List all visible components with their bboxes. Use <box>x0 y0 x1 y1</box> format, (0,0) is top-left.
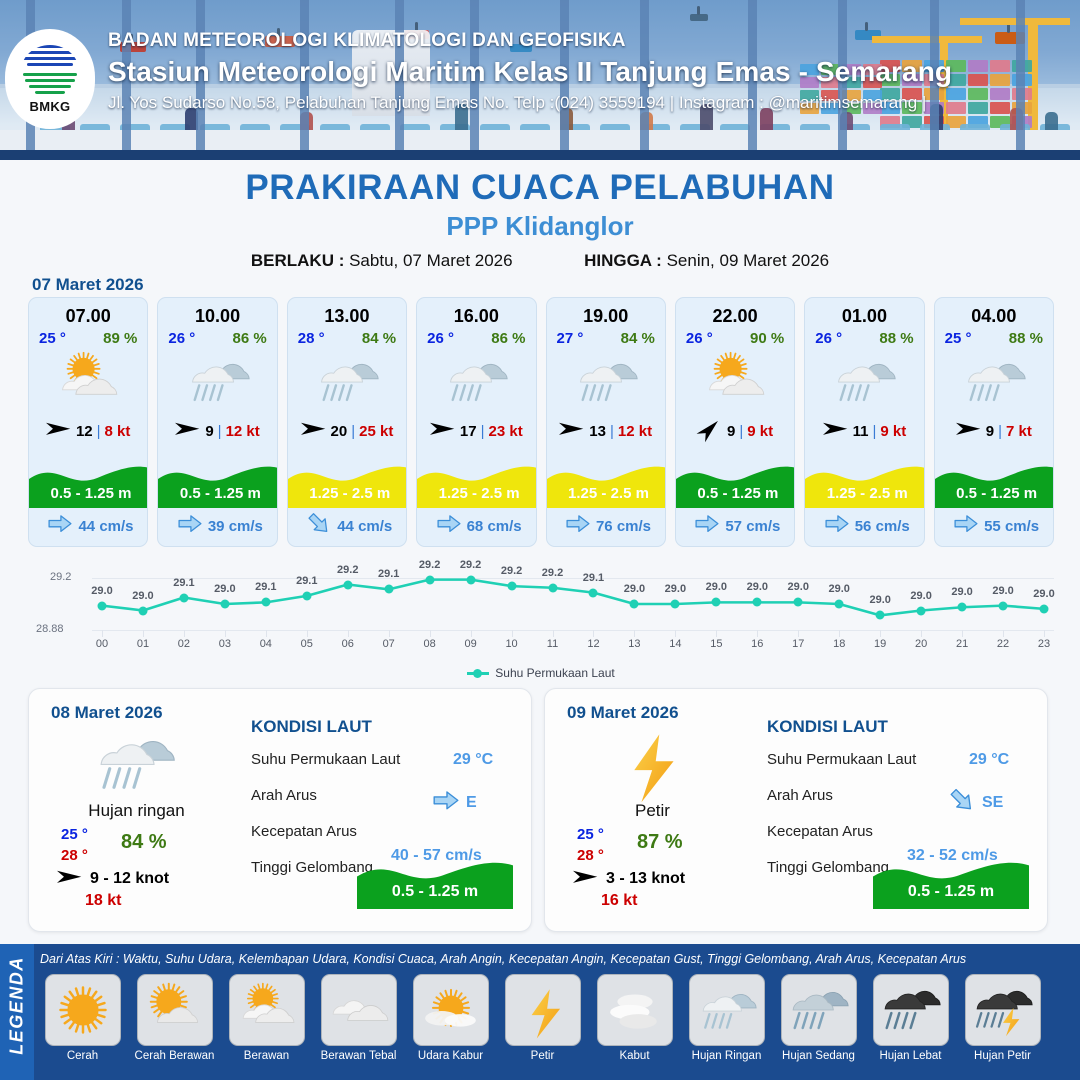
wind-direction-arrow-icon <box>956 421 982 441</box>
hourly-forecast-card[interactable]: 19.00 27 ° 84 % 13 | 12 kt 1.25 - 2.5 m … <box>546 297 666 547</box>
card-current-speed: 44 cm/s <box>78 518 133 535</box>
chart-data-point <box>98 601 107 610</box>
legend-item-label: Hujan Sedang <box>782 1050 855 1062</box>
chart-data-point <box>466 575 475 584</box>
card-wind-gust: 9 kt <box>747 423 773 440</box>
card-air-temperature: 28 ° <box>298 330 325 347</box>
card-current-row: 57 cm/s <box>676 512 795 540</box>
chart-data-point <box>712 598 721 607</box>
current-direction-arrow-icon <box>954 515 978 536</box>
legend-footer: LEGENDA Dari Atas Kiri : Waktu, Suhu Uda… <box>0 944 1080 1080</box>
chart-x-tick <box>471 630 472 637</box>
chart-x-axis-label: 13 <box>628 638 640 650</box>
sea-row-label: Tinggi Gelombang <box>251 859 373 876</box>
card-wind-separator: | <box>97 423 101 440</box>
chart-legend: Suhu Permukaan Laut <box>28 666 1054 680</box>
day3-wind-row: 3 - 13 knot <box>573 869 685 890</box>
card-air-temperature: 27 ° <box>557 330 584 347</box>
chart-x-axis-label: 19 <box>874 638 886 650</box>
chart-x-axis-label: 08 <box>424 638 436 650</box>
chart-x-tick <box>1044 630 1045 637</box>
legend-item-label: Kabut <box>619 1050 649 1062</box>
card-humidity: 88 % <box>879 330 913 347</box>
chart-data-point <box>507 582 516 591</box>
card-wind-speed: 11 <box>853 423 869 440</box>
chart-data-point <box>876 611 885 620</box>
legend-item: Hujan Lebat <box>868 974 953 1072</box>
berawan-icon <box>229 974 305 1046</box>
current-direction-arrow-icon <box>825 515 849 536</box>
legend-item: Hujan Sedang <box>776 974 861 1072</box>
legend-item-label: Petir <box>531 1050 555 1062</box>
chart-x-axis-label: 10 <box>505 638 517 650</box>
sea-row-label: Arah Arus <box>767 787 833 804</box>
card-wind-speed: 13 <box>589 423 606 440</box>
page-title: PRAKIRAAN CUACA PELABUHAN <box>0 168 1080 208</box>
day3-wind-gust: 16 kt <box>601 892 637 910</box>
chart-point-label: 29.0 <box>132 590 153 602</box>
legend-item: Petir <box>500 974 585 1072</box>
card-weather-icon <box>288 348 406 414</box>
chart-x-tick <box>757 630 758 637</box>
day3-temperature-range: 25 ° 28 ° <box>577 824 604 866</box>
chart-point-label: 29.2 <box>501 565 522 577</box>
day2-wind-row: 9 - 12 knot <box>57 869 169 890</box>
legend-item-label: Hujan Lebat <box>879 1050 941 1062</box>
chart-data-point <box>671 600 680 609</box>
current-direction-arrow-icon <box>48 515 72 536</box>
chart-point-label: 29.2 <box>542 567 563 579</box>
chart-x-axis-label: 22 <box>997 638 1009 650</box>
berawan-tebal-icon <box>321 974 397 1046</box>
card-wind-separator: | <box>998 423 1002 440</box>
card-humidity: 90 % <box>750 330 784 347</box>
sea-row-label: Arah Arus <box>251 787 317 804</box>
card-wind-separator: | <box>739 423 743 440</box>
legend-item-label: Udara Kabur <box>418 1050 483 1062</box>
card-wind-gust: 12 kt <box>226 423 260 440</box>
card-air-temperature: 26 ° <box>815 330 842 347</box>
card-wind-row: 17 | 23 kt <box>417 416 535 446</box>
chart-data-point <box>917 606 926 615</box>
chart-x-tick <box>143 630 144 637</box>
panel-wave-height: 0.5 - 1.25 m <box>873 883 1029 901</box>
card-weather-icon <box>805 348 923 414</box>
card-wind-gust: 8 kt <box>105 423 131 440</box>
legend-icon-list: Cerah Cerah Berawan Berawan Berawan Teba… <box>40 974 1075 1072</box>
card-temp-humidity-row: 26 ° 86 % <box>417 327 535 347</box>
chart-x-tick <box>512 630 513 637</box>
hujan-sedang-icon <box>781 974 857 1046</box>
card-air-temperature: 26 ° <box>168 330 195 347</box>
card-wind-row: 20 | 25 kt <box>288 416 406 446</box>
sea-row-label: Suhu Permukaan Laut <box>251 751 400 768</box>
legend-item-label: Hujan Ringan <box>692 1050 762 1062</box>
hujan-petir-icon <box>965 974 1041 1046</box>
arrow-se-icon <box>949 791 975 815</box>
chart-x-axis-label: 14 <box>669 638 681 650</box>
chart-x-axis-label: 00 <box>96 638 108 650</box>
chart-data-point <box>179 593 188 602</box>
card-wind-row: 9 | 7 kt <box>935 416 1053 446</box>
card-wind-speed: 20 <box>331 423 348 440</box>
chart-point-label: 29.0 <box>788 581 809 593</box>
day3-temp-max: 28 ° <box>577 845 604 866</box>
kabut-icon <box>597 974 673 1046</box>
chart-data-point <box>343 580 352 589</box>
chart-point-label: 29.1 <box>296 575 317 587</box>
chart-x-tick <box>266 630 267 637</box>
card-wave-height: 1.25 - 2.5 m <box>417 485 536 502</box>
card-weather-icon <box>935 348 1053 414</box>
valid-until-value: Senin, 09 Maret 2026 <box>667 251 830 270</box>
chart-data-point <box>548 583 557 592</box>
card-wind-gust: 23 kt <box>489 423 523 440</box>
day2-weather-icon <box>69 721 199 805</box>
wind-direction-arrow-icon <box>573 869 599 890</box>
chart-point-label: 29.0 <box>992 585 1013 597</box>
chart-data-point <box>138 606 147 615</box>
chart-x-axis-label: 06 <box>342 638 354 650</box>
chart-x-tick <box>880 630 881 637</box>
validity-row: BERLAKU : Sabtu, 07 Maret 2026 HINGGA : … <box>0 251 1080 271</box>
chart-point-label: 29.0 <box>1033 588 1054 600</box>
sea-row-label: Tinggi Gelombang <box>767 859 889 876</box>
bmkg-logo-emblem <box>21 45 79 97</box>
day2-temp-min: 25 ° <box>61 824 88 845</box>
chart-x-axis-label: 16 <box>751 638 763 650</box>
hujan-ringan-icon <box>689 974 765 1046</box>
hourly-forecast-card[interactable]: 13.00 28 ° 84 % 20 | 25 kt 1.25 - 2.5 m … <box>287 297 407 547</box>
chart-x-axis-label: 03 <box>219 638 231 650</box>
chart-x-tick <box>225 630 226 637</box>
legend-item: Cerah <box>40 974 125 1072</box>
card-temp-humidity-row: 25 ° 89 % <box>29 327 147 347</box>
card-current-speed: 76 cm/s <box>596 518 651 535</box>
card-time: 19.00 <box>547 306 665 327</box>
card-time: 04.00 <box>935 306 1053 327</box>
card-time: 10.00 <box>158 306 276 327</box>
day2-wind-speed: 9 - 12 knot <box>90 870 169 888</box>
chart-data-point <box>425 575 434 584</box>
card-wind-row: 13 | 12 kt <box>547 416 665 446</box>
chart-data-point <box>384 585 393 594</box>
chart-point-label: 29.1 <box>378 568 399 580</box>
chart-point-label: 29.0 <box>747 581 768 593</box>
legend-item: Berawan <box>224 974 309 1072</box>
chart-x-tick <box>348 630 349 637</box>
card-current-row: 55 cm/s <box>935 512 1054 540</box>
chart-point-label: 29.0 <box>91 585 112 597</box>
sea-row-label: Suhu Permukaan Laut <box>767 751 916 768</box>
chart-x-tick <box>184 630 185 637</box>
sea-row-value: SE <box>949 791 1003 815</box>
station-name: Stasiun Meteorologi Maritim Kelas II Tan… <box>108 56 1028 88</box>
hujan-lebat-icon <box>873 974 949 1046</box>
chart-data-point <box>794 598 803 607</box>
chart-x-axis-label: 01 <box>137 638 149 650</box>
card-wind-row: 11 | 9 kt <box>805 416 923 446</box>
card-wave-height: 0.5 - 1.25 m <box>935 485 1054 502</box>
legend-item: Kabut <box>592 974 677 1072</box>
card-weather-icon <box>676 348 794 414</box>
card-wave-height: 0.5 - 1.25 m <box>29 485 148 502</box>
cerah-icon <box>45 974 121 1046</box>
chart-point-label: 29.0 <box>828 583 849 595</box>
hourly-forecast-cards: 07.00 25 ° 89 % 12 | 8 kt 0.5 - 1.25 m 4… <box>28 297 1054 547</box>
chart-x-axis-label: 15 <box>710 638 722 650</box>
card-time: 07.00 <box>29 306 147 327</box>
card-weather-icon <box>158 348 276 414</box>
chart-data-point <box>220 600 229 609</box>
page-header: BMKG BADAN METEOROLOGI KLIMATOLOGI DAN G… <box>0 0 1080 160</box>
chart-data-point <box>261 598 270 607</box>
legend-tab-label: LEGENDA <box>7 938 28 1074</box>
legend-item: Udara Kabur <box>408 974 493 1072</box>
card-weather-icon <box>29 348 147 414</box>
hourly-forecast-card[interactable]: 04.00 25 ° 88 % 9 | 7 kt 0.5 - 1.25 m 55… <box>934 297 1054 547</box>
wind-direction-arrow-icon <box>175 421 201 441</box>
chart-point-label: 29.0 <box>665 583 686 595</box>
chart-x-axis-label: 21 <box>956 638 968 650</box>
card-current-row: 39 cm/s <box>158 512 277 540</box>
chart-point-label: 29.2 <box>419 559 440 571</box>
card-wave-height: 1.25 - 2.5 m <box>805 485 924 502</box>
chart-point-label: 29.1 <box>583 572 604 584</box>
chart-point-label: 29.0 <box>869 594 890 606</box>
cerah-berawan-icon <box>137 974 213 1046</box>
chart-point-label: 29.0 <box>706 581 727 593</box>
card-weather-icon <box>547 348 665 414</box>
legend-item-label: Berawan Tebal <box>321 1050 397 1062</box>
card-time: 22.00 <box>676 306 794 327</box>
chart-data-point <box>1040 604 1049 613</box>
card-temp-humidity-row: 25 ° 88 % <box>935 327 1053 347</box>
card-current-row: 76 cm/s <box>547 512 666 540</box>
card-wind-speed: 9 <box>205 423 213 440</box>
chart-point-label: 29.1 <box>255 581 276 593</box>
chart-x-tick <box>716 630 717 637</box>
card-wind-gust: 12 kt <box>618 423 652 440</box>
chart-x-tick <box>962 630 963 637</box>
legend-item-label: Berawan <box>244 1050 289 1062</box>
chart-point-label: 29.0 <box>910 590 931 602</box>
day2-date: 08 Maret 2026 <box>51 703 163 723</box>
wind-direction-arrow-icon <box>697 421 723 441</box>
day3-temp-min: 25 ° <box>577 824 604 845</box>
day2-temperature-range: 25 ° 28 ° <box>61 824 88 866</box>
card-wind-row: 9 | 12 kt <box>158 416 276 446</box>
card-current-speed: 56 cm/s <box>855 518 910 535</box>
legend-item: Hujan Petir <box>960 974 1045 1072</box>
hourly-forecast-card[interactable]: 16.00 26 ° 86 % 17 | 23 kt 1.25 - 2.5 m … <box>416 297 536 547</box>
day1-date-label: 07 Maret 2026 <box>32 275 144 295</box>
chart-data-point <box>958 603 967 612</box>
day2-wind-gust: 18 kt <box>85 892 121 910</box>
wind-direction-arrow-icon <box>46 421 72 441</box>
chart-legend-label: Suhu Permukaan Laut <box>495 666 614 680</box>
page-subtitle: PPP Klidanglor <box>0 211 1080 242</box>
card-wind-separator: | <box>218 423 222 440</box>
arrow-e-icon <box>433 791 459 815</box>
current-direction-value: E <box>466 794 477 812</box>
card-air-temperature: 26 ° <box>686 330 713 347</box>
petir-icon <box>505 974 581 1046</box>
chart-x-tick <box>634 630 635 637</box>
valid-from-label: BERLAKU : <box>251 251 345 270</box>
day3-date: 09 Maret 2026 <box>567 703 679 723</box>
card-wind-speed: 17 <box>460 423 477 440</box>
panel-wave-height: 0.5 - 1.25 m <box>357 883 513 901</box>
card-time: 01.00 <box>805 306 923 327</box>
wind-direction-arrow-icon <box>823 421 849 441</box>
udara-kabur-icon <box>413 974 489 1046</box>
day3-condition: Petir <box>545 801 760 821</box>
card-current-speed: 39 cm/s <box>208 518 263 535</box>
card-temp-humidity-row: 26 ° 86 % <box>158 327 276 347</box>
sea-row-value: 29 °C <box>969 751 1009 769</box>
chart-x-axis-label: 09 <box>464 638 476 650</box>
legend-item: Hujan Ringan <box>684 974 769 1072</box>
day3-wind-speed: 3 - 13 knot <box>606 870 685 888</box>
chart-data-point <box>589 588 598 597</box>
card-wind-speed: 12 <box>76 423 93 440</box>
card-wind-speed: 9 <box>727 423 735 440</box>
chart-point-label: 29.2 <box>460 559 481 571</box>
legend-item-label: Hujan Petir <box>974 1050 1031 1062</box>
legend-item-label: Cerah Berawan <box>135 1050 215 1062</box>
hourly-forecast-card[interactable]: 01.00 26 ° 88 % 11 | 9 kt 1.25 - 2.5 m 5… <box>804 297 924 547</box>
bmkg-logo-label: BMKG <box>30 99 71 114</box>
card-wind-separator: | <box>351 423 355 440</box>
day3-forecast-panel: 09 Maret 2026 Petir 25 ° 28 ° 87 % 3 - 1… <box>544 688 1048 932</box>
card-time: 13.00 <box>288 306 406 327</box>
card-weather-icon <box>417 348 535 414</box>
agency-name: BADAN METEOROLOGI KLIMATOLOGI DAN GEOFIS… <box>108 30 1028 52</box>
card-current-row: 68 cm/s <box>417 512 536 540</box>
card-temp-humidity-row: 26 ° 90 % <box>676 327 794 347</box>
wind-direction-arrow-icon <box>430 421 456 441</box>
card-humidity: 84 % <box>362 330 396 347</box>
chart-x-tick <box>839 630 840 637</box>
card-current-row: 44 cm/s <box>288 512 407 540</box>
chart-x-tick <box>675 630 676 637</box>
legend-tab: LEGENDA <box>0 944 34 1080</box>
wind-direction-arrow-icon <box>57 869 83 890</box>
wind-direction-arrow-icon <box>301 421 327 441</box>
day2-humidity: 84 % <box>121 831 167 854</box>
chart-x-tick <box>921 630 922 637</box>
card-wind-separator: | <box>872 423 876 440</box>
chart-x-tick <box>1003 630 1004 637</box>
chart-x-tick <box>593 630 594 637</box>
chart-data-point <box>835 600 844 609</box>
card-temp-humidity-row: 26 ° 88 % <box>805 327 923 347</box>
sea-surface-temperature-chart: 29.228.880029.00129.00229.10329.00429.10… <box>28 556 1054 684</box>
card-wind-speed: 9 <box>986 423 994 440</box>
chart-x-tick <box>430 630 431 637</box>
legend-item: Cerah Berawan <box>132 974 217 1072</box>
card-air-temperature: 26 ° <box>427 330 454 347</box>
day2-forecast-panel: 08 Maret 2026 Hujan ringan 25 ° 28 ° 84 … <box>28 688 532 932</box>
card-wind-gust: 25 kt <box>359 423 393 440</box>
chart-x-tick <box>553 630 554 637</box>
wind-direction-arrow-icon <box>559 421 585 441</box>
card-current-speed: 68 cm/s <box>467 518 522 535</box>
chart-x-tick <box>389 630 390 637</box>
card-current-row: 44 cm/s <box>29 512 148 540</box>
day3-weather-icon <box>585 721 715 805</box>
legend-note: Dari Atas Kiri : Waktu, Suhu Udara, Kele… <box>40 952 1075 966</box>
chart-data-point <box>630 600 639 609</box>
card-humidity: 89 % <box>103 330 137 347</box>
card-current-speed: 57 cm/s <box>725 518 780 535</box>
current-direction-arrow-icon <box>437 515 461 536</box>
card-temp-humidity-row: 27 ° 84 % <box>547 327 665 347</box>
day3-humidity: 87 % <box>637 831 683 854</box>
card-air-temperature: 25 ° <box>945 330 972 347</box>
card-humidity: 86 % <box>491 330 525 347</box>
bmkg-logo: BMKG <box>5 29 95 129</box>
chart-data-point <box>753 598 762 607</box>
sea-row-value: 29 °C <box>453 751 493 769</box>
current-direction-arrow-icon <box>695 515 719 536</box>
chart-x-axis-label: 05 <box>301 638 313 650</box>
card-wind-gust: 9 kt <box>880 423 906 440</box>
chart-point-label: 29.0 <box>214 583 235 595</box>
current-direction-arrow-icon <box>307 515 331 536</box>
card-humidity: 88 % <box>1009 330 1043 347</box>
card-humidity: 86 % <box>233 330 267 347</box>
card-wind-separator: | <box>610 423 614 440</box>
legend-item-label: Cerah <box>67 1050 98 1062</box>
chart-data-point <box>302 591 311 600</box>
card-wind-gust: 7 kt <box>1006 423 1032 440</box>
sea-row-value: E <box>433 791 477 815</box>
station-address: Jl. Yos Sudarso No.58, Pelabuhan Tanjung… <box>108 93 1028 113</box>
chart-x-axis-label: 23 <box>1038 638 1050 650</box>
chart-x-tick <box>798 630 799 637</box>
page-title-block: PRAKIRAAN CUACA PELABUHAN PPP Klidanglor… <box>0 168 1080 271</box>
card-current-speed: 44 cm/s <box>337 518 392 535</box>
hourly-forecast-card[interactable]: 07.00 25 ° 89 % 12 | 8 kt 0.5 - 1.25 m 4… <box>28 297 148 547</box>
card-temp-humidity-row: 28 ° 84 % <box>288 327 406 347</box>
chart-x-axis-label: 04 <box>260 638 272 650</box>
card-wind-row: 12 | 8 kt <box>29 416 147 446</box>
day3-sea-conditions-title: KONDISI LAUT <box>767 717 888 737</box>
chart-legend-marker <box>467 672 489 675</box>
hourly-forecast-card[interactable]: 10.00 26 ° 86 % 9 | 12 kt 0.5 - 1.25 m 3… <box>157 297 277 547</box>
chart-data-point <box>999 601 1008 610</box>
sea-row-label: Kecepatan Arus <box>767 823 873 840</box>
day2-condition: Hujan ringan <box>29 801 244 821</box>
legend-item: Berawan Tebal <box>316 974 401 1072</box>
current-direction-value: SE <box>982 794 1003 812</box>
card-wave-height: 0.5 - 1.25 m <box>676 485 795 502</box>
chart-x-axis-label: 20 <box>915 638 927 650</box>
day2-sea-conditions-title: KONDISI LAUT <box>251 717 372 737</box>
chart-x-axis-label: 07 <box>383 638 395 650</box>
card-current-speed: 55 cm/s <box>984 518 1039 535</box>
header-text-block: BADAN METEOROLOGI KLIMATOLOGI DAN GEOFIS… <box>108 30 1028 113</box>
hourly-forecast-card[interactable]: 22.00 26 ° 90 % 9 | 9 kt 0.5 - 1.25 m 57… <box>675 297 795 547</box>
card-wave-height: 0.5 - 1.25 m <box>158 485 277 502</box>
chart-point-label: 29.1 <box>173 577 194 589</box>
day2-temp-max: 28 ° <box>61 845 88 866</box>
chart-x-axis-label: 12 <box>587 638 599 650</box>
chart-x-axis-label: 18 <box>833 638 845 650</box>
card-time: 16.00 <box>417 306 535 327</box>
